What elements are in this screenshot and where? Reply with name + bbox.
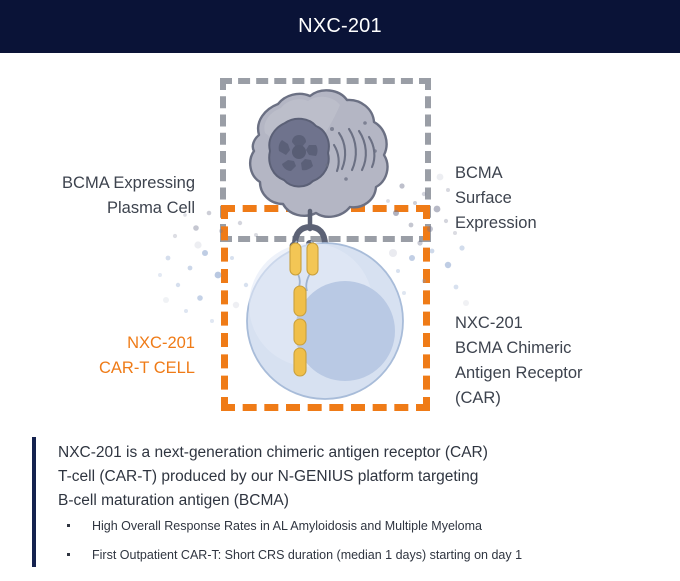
plasma-cell-nucleus [269,119,329,187]
t-cell-nucleus [295,281,395,381]
t-cell-graphic [247,243,403,399]
summary-paragraph: NXC-201 is a next-generation chimeric an… [58,441,618,513]
label-bcma-expressing-plasma-cell: BCMA Expressing Plasma Cell [20,171,195,221]
label-bcma-surface-expression: BCMA Surface Expression [455,161,655,236]
list-item-label: First Outpatient CAR-T: Short CRS durati… [92,548,522,562]
plasma-cell-graphic [250,90,387,216]
label-nxc201-bcma-car: NXC-201 BCMA Chimeric Antigen Receptor (… [455,311,665,411]
cell-illustration [215,73,445,418]
summary-bullet-list: High Overall Response Rates in AL Amyloi… [58,516,628,574]
label-nxc201-cart-cell: NXC-201 CAR-T CELL [20,331,195,381]
diagram-area: BCMA Expressing Plasma Cell NXC-201 CAR-… [0,53,680,428]
header-bar: NXC-201 [0,0,680,53]
list-item: High Overall Response Rates in AL Amyloi… [58,516,628,536]
summary-block: NXC-201 is a next-generation chimeric an… [32,437,652,567]
bullet-dot-icon [67,524,70,527]
bullet-dot-icon [67,553,70,556]
list-item-label: High Overall Response Rates in AL Amyloi… [92,519,482,533]
list-item: First Outpatient CAR-T: Short CRS durati… [58,545,628,565]
page-title: NXC-201 [0,0,680,53]
accent-bar [32,437,36,567]
